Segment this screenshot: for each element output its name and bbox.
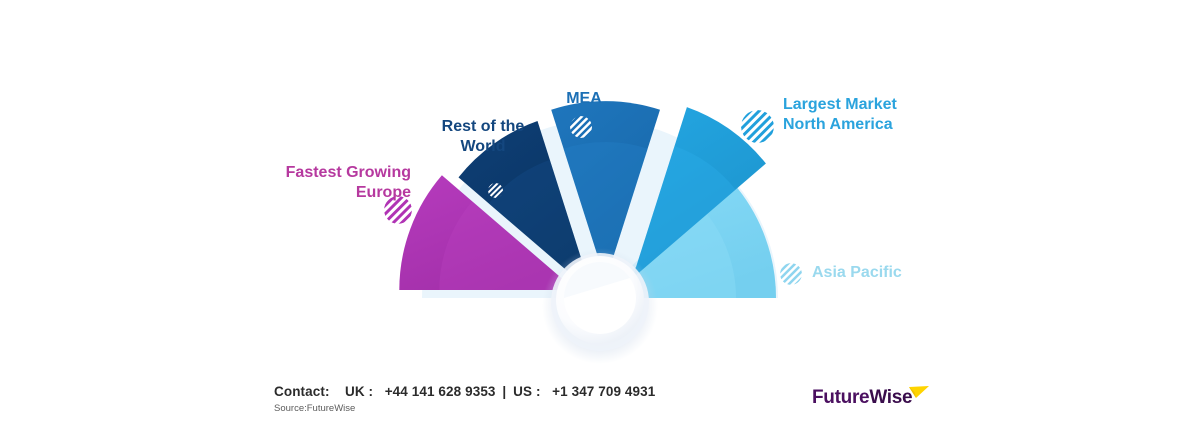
label-rest-of-world: Rest of the World (403, 117, 563, 156)
logo-word-future: Future (812, 387, 869, 408)
uk-label: UK : (345, 384, 373, 399)
north-america-marker-icon (741, 110, 774, 143)
source-line: Source:FutureWise (274, 403, 655, 414)
label-asia-pacific: Asia Pacific (812, 263, 972, 283)
us-label: US : (513, 384, 540, 399)
label-north-america: Largest Market North America (783, 95, 973, 134)
futurewise-logo: FutureWise (812, 386, 932, 420)
contact-separator: | (499, 384, 509, 399)
rest-of-world-marker-icon (488, 183, 503, 198)
logo-word-wise: Wise (869, 387, 912, 408)
contact-prefix: Contact: (274, 384, 330, 399)
contact-line: Contact: UK : +44 141 628 9353 | US : +1… (274, 384, 655, 399)
asia-pacific-marker-icon (780, 263, 802, 285)
mea-marker-icon (570, 116, 592, 138)
footer: Contact: UK : +44 141 628 9353 | US : +1… (274, 384, 655, 414)
fan-pie-chart (0, 0, 1200, 428)
logo-wordmark: FutureWise (812, 388, 912, 407)
label-mea: MEA (530, 89, 638, 109)
logo-flag-icon (909, 386, 931, 402)
chart-center-hub (542, 248, 658, 364)
infographic-canvas: Fastest Growing Europe Rest of the World… (0, 0, 1200, 428)
uk-phone: +44 141 628 9353 (385, 384, 496, 399)
label-europe: Fastest Growing Europe (236, 163, 411, 202)
us-phone: +1 347 709 4931 (552, 384, 655, 399)
